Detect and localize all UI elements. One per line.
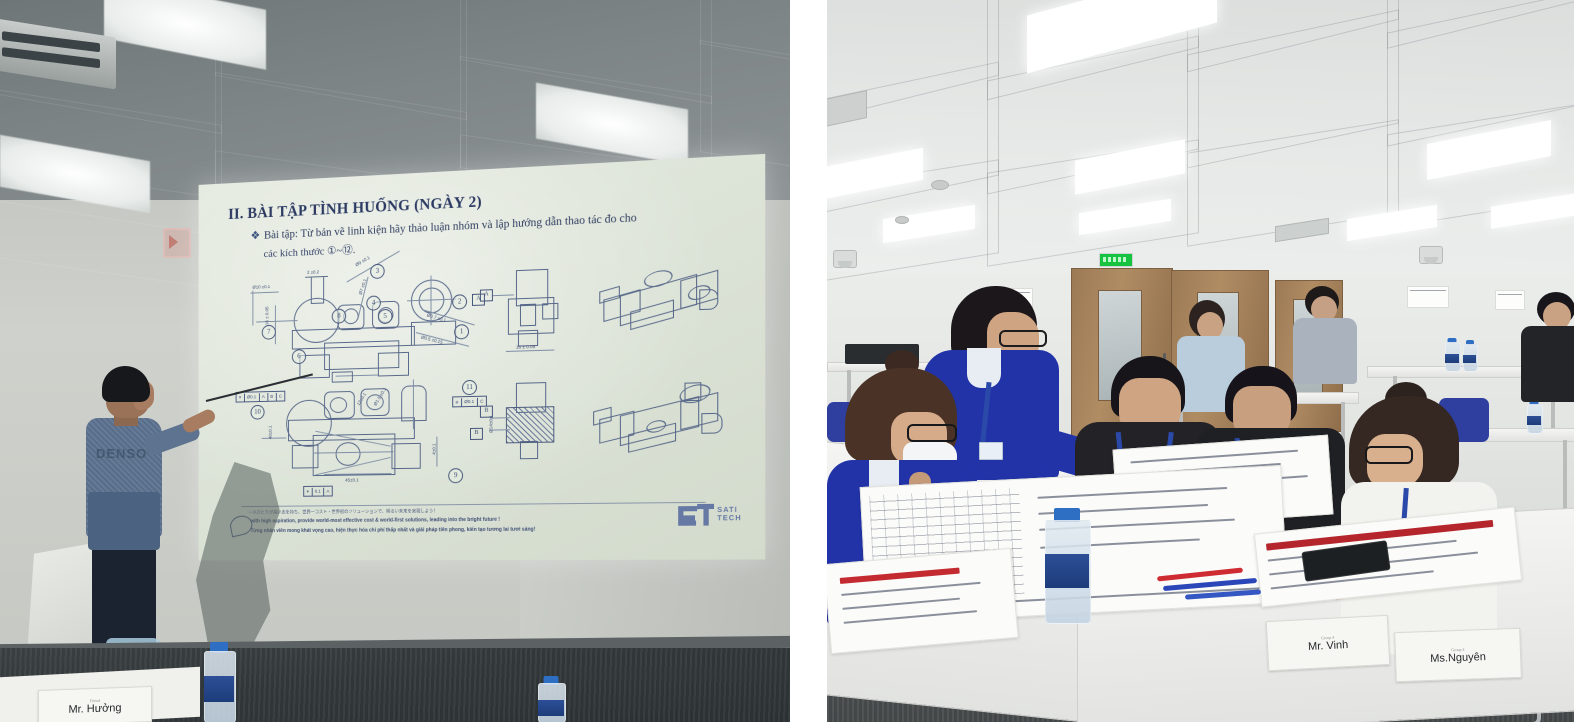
ceiling-smoke-detector-icon [895,216,909,224]
water-bottle [1463,340,1476,370]
balloon-callout: 9 [448,468,463,483]
balloon-callout: 2 [452,294,467,310]
balloon-callout: 7 [262,325,276,340]
glasses-icon [907,424,957,442]
presenter-shirt-logo-text: DENSO [96,446,147,461]
projection-screen: II. BÀI TẬP TÌNH HUỐNG (NGÀY 2) ❖Bài tập… [199,154,766,561]
wall-exit-indicator-icon [163,228,191,258]
presenter-shirt-lower [88,492,160,550]
feature-control-frame: ⌖0.1A [303,486,333,497]
name-card-vinh: Group 4 Mr. Vinh [1266,615,1390,671]
datum-label-a: A [480,289,493,302]
handout [827,548,1019,654]
balloon-callout: 1 [454,324,469,339]
wall-speaker-icon [1419,246,1443,264]
left-photo-presenter-scene: II. BÀI TẬP TÌNH HUỐNG (NGÀY 2) ❖Bài tập… [0,0,790,722]
presenter-person: DENSO [78,366,196,666]
name-card-huong: Friend Mr. Hưởng [38,686,152,722]
id-badge [979,442,1003,460]
water-bottle [1445,338,1459,370]
logo-line-2: TECH [717,515,742,523]
water-bottle [204,642,234,722]
ceiling-smoke-detector-icon [931,180,949,190]
logo-line-1: SATI [717,507,742,515]
slide-footer-rule [241,502,705,507]
balloon-callout: 11 [462,380,477,395]
sati-tech-logo: SATI TECH [678,502,742,529]
wall-notice [1407,286,1449,308]
balloon-callout: 10 [251,405,265,420]
right-photo-group-workshop-scene: Group 4 Mr. Vinh Group 4 Ms.Nguyên [827,0,1574,722]
slide-bullet-line2: các kích thước ①~⑫. [264,241,356,261]
glasses-icon [999,330,1047,347]
name-card-name: Mr. Vinh [1308,638,1349,652]
exit-sign [1099,253,1133,267]
photo-collage: II. BÀI TẬP TÌNH HUỐNG (NGÀY 2) ❖Bài tập… [0,0,1574,722]
name-card-name: Mr. Hưởng [68,702,121,716]
water-bottle [1045,508,1089,622]
name-card-name: Ms.Nguyên [1430,651,1486,665]
st-mark-icon [678,502,714,529]
wall-notice [1495,290,1525,310]
right-ceiling-grid [827,0,1574,272]
glasses-icon [1365,446,1413,464]
wall-speaker-icon [833,250,857,268]
name-card-nguyen: Group 4 Ms.Nguyên [1394,628,1522,682]
water-bottle [538,676,564,722]
datum-label-b: B [470,428,483,440]
slide-footer-en: with high aspiration, provide world-most… [251,517,500,525]
bullet-diamond-icon: ❖ [251,230,261,242]
balloon-callout: 3 [370,264,385,279]
presenter-hair [102,366,150,402]
water-bottle [1527,400,1541,432]
slide-footer-vn: Từng nhân viên mong khát vọng cao, hiện … [251,527,536,535]
